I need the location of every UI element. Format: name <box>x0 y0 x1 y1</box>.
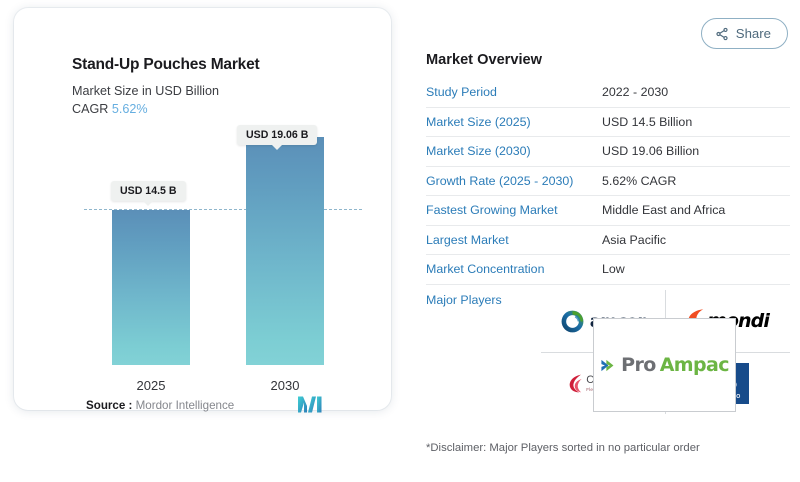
proampac-logo-text-ampac: Ampac <box>660 354 729 376</box>
mordor-intelligence-logo-icon <box>297 396 323 413</box>
disclaimer-text: *Disclaimer: Major Players sorted in no … <box>426 442 700 454</box>
table-row-market-concentration: Market Concentration Low <box>426 255 790 285</box>
row-key: Market Size (2025) <box>426 115 602 129</box>
row-key: Largest Market <box>426 233 602 247</box>
row-value: USD 19.06 Billion <box>602 144 790 158</box>
market-overview-title: Market Overview <box>426 52 542 68</box>
bar-chart-plot-area: USD 14.5 B USD 19.06 B 2025 2030 <box>72 133 362 373</box>
cagr-value: 5.62% <box>112 102 148 116</box>
amcor-logo-icon <box>561 310 584 333</box>
chart-subtitle: Market Size in USD Billion <box>72 84 219 98</box>
bar-value-label-2025: USD 14.5 B <box>111 181 186 201</box>
proampac-logo-icon <box>600 357 617 374</box>
share-nodes-icon <box>715 27 729 41</box>
cagr-label: CAGR <box>72 102 108 116</box>
row-key: Growth Rate (2025 - 2030) <box>426 174 602 188</box>
bar-2025[interactable] <box>112 210 190 365</box>
table-row-study-period: Study Period 2022 - 2030 <box>426 78 790 108</box>
major-players-logo-grid: amcor mondi <box>541 290 790 414</box>
bar-value-label-2030: USD 19.06 B <box>237 125 317 145</box>
chart-title: Stand-Up Pouches Market <box>72 56 259 74</box>
row-value: Low <box>602 262 790 276</box>
market-report-page: Stand-Up Pouches Market Market Size in U… <box>0 0 800 482</box>
source-value: Mordor Intelligence <box>136 399 235 412</box>
row-key: Market Concentration <box>426 262 602 276</box>
logo-cell-proampac[interactable]: ProAmpac <box>593 318 736 412</box>
row-value: Middle East and Africa <box>602 203 790 217</box>
x-axis-tick-2030: 2030 <box>246 378 324 393</box>
source-row: Source : Mordor Intelligence <box>86 399 234 412</box>
share-button[interactable]: Share <box>701 18 788 49</box>
source-label: Source : <box>86 399 132 412</box>
proampac-logo-text-pro: Pro <box>621 354 656 376</box>
table-row-fastest-growing-market: Fastest Growing Market Middle East and A… <box>426 196 790 226</box>
chart-card: Stand-Up Pouches Market Market Size in U… <box>14 8 391 410</box>
table-row-market-size-2030: Market Size (2030) USD 19.06 Billion <box>426 137 790 167</box>
row-value: USD 14.5 Billion <box>602 115 790 129</box>
row-key: Market Size (2030) <box>426 144 602 158</box>
market-overview-table: Study Period 2022 - 2030 Market Size (20… <box>426 78 790 319</box>
row-key: Fastest Growing Market <box>426 203 602 217</box>
row-value: Asia Pacific <box>602 233 790 247</box>
table-row-market-size-2025: Market Size (2025) USD 14.5 Billion <box>426 108 790 138</box>
x-axis-tick-2025: 2025 <box>112 378 190 393</box>
table-row-largest-market: Largest Market Asia Pacific <box>426 226 790 256</box>
cagr-row: CAGR 5.62% <box>72 102 148 116</box>
bar-2030[interactable] <box>246 137 324 365</box>
row-value: 5.62% CAGR <box>602 174 790 188</box>
constantia-logo-icon <box>569 374 583 393</box>
share-button-label: Share <box>736 26 771 41</box>
row-key: Study Period <box>426 85 602 99</box>
row-value: 2022 - 2030 <box>602 85 790 99</box>
table-row-growth-rate: Growth Rate (2025 - 2030) 5.62% CAGR <box>426 167 790 197</box>
market-overview-panel: Share Market Overview Study Period 2022 … <box>408 0 800 482</box>
